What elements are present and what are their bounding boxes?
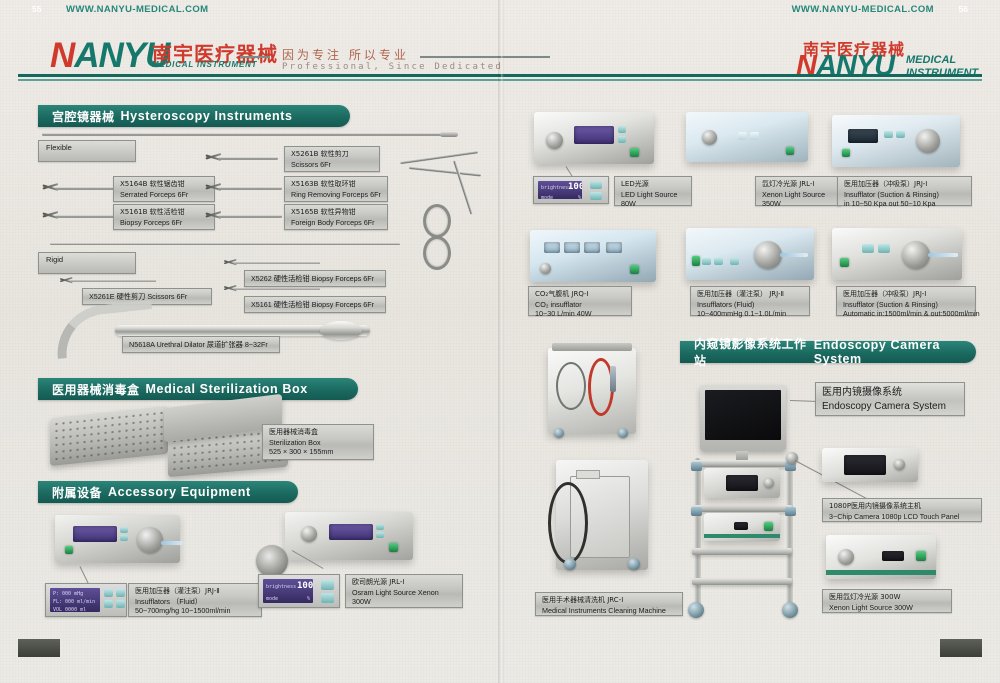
instrument-label-biopsy-5262-text: X5262 硬性活检钳 Biopsy Forceps 6Fr bbox=[251, 274, 379, 284]
sterilization-box-label-en: Sterilization Box bbox=[269, 438, 367, 448]
lcd-led-brightness-value: 100 bbox=[568, 182, 582, 192]
device-label-cleaning-en: Medical Instruments Cleaning Machine bbox=[542, 606, 676, 616]
section-banner-camera-cn: 内窥镜影像系统工作站 bbox=[680, 335, 808, 369]
lcd-osram-brightness-value: 100 bbox=[297, 581, 313, 591]
device-label-osram-spec: 300W bbox=[352, 597, 456, 607]
instrument-label-ring-removing: X5163B 软性取环钳 Ring Removing Forceps 6Fr bbox=[284, 176, 388, 202]
instrument-label-ring-en: Ring Removing Forceps 6Fr bbox=[291, 190, 381, 200]
machine-cleaning-upper-top bbox=[552, 343, 632, 351]
lcd-closeup-osram-btn-up[interactable] bbox=[321, 580, 334, 590]
device-co2-display-1 bbox=[544, 242, 560, 253]
device-label-co2-spec: 10~30 L/min 40W bbox=[535, 309, 625, 319]
cart-light-source-stripe bbox=[704, 534, 780, 538]
slogan-english: Professional, Since Dedicated bbox=[282, 62, 503, 72]
cart-ccu-screen bbox=[726, 475, 758, 491]
ring-forceps-ring-left bbox=[423, 204, 451, 238]
device-label-co2-en: CO₂ insufflator bbox=[535, 300, 625, 310]
device-osram-light-port[interactable] bbox=[301, 526, 317, 542]
lcd-closeup-led: brightness 100 mode % bbox=[533, 176, 609, 204]
sterilization-box-label-size: 525 × 300 × 155mm bbox=[269, 447, 367, 457]
device-osram-button-a[interactable] bbox=[376, 524, 384, 530]
instrument-shaft-biopsy-5262 bbox=[234, 262, 320, 264]
instrument-label-scissors: X5261B 软性剪刀 Scissors 6Fr bbox=[284, 146, 380, 172]
device-label-led-cn: LED光源 bbox=[621, 180, 685, 190]
catalog-page: NANYU 南宇医疗器械 MEDICAL INSTRUMENT 因为专注 所以专… bbox=[0, 0, 1000, 683]
device-co2-power-button[interactable] bbox=[630, 265, 639, 274]
lcd-led-brightness-label: brightness bbox=[541, 185, 571, 191]
device-led-light-source bbox=[534, 112, 654, 164]
device-led-button-a[interactable] bbox=[618, 126, 626, 133]
ring-forceps-arm bbox=[453, 160, 473, 214]
device-co2-display-4 bbox=[606, 242, 622, 253]
device-label-led-spec: 80W bbox=[621, 199, 685, 209]
lcd-closeup-led-btn-up[interactable] bbox=[590, 181, 602, 189]
dilator-bulb bbox=[320, 321, 362, 340]
cart-light-source-unit bbox=[704, 513, 780, 541]
device-osram-button-b[interactable] bbox=[376, 532, 384, 538]
device-label-led: LED光源 LED Light Source 80W bbox=[614, 176, 692, 206]
machine-cleaning-lower-hose bbox=[548, 482, 588, 564]
device-label-osram-cn: 欧司朗光源 JRL-Ⅰ bbox=[352, 578, 456, 588]
cart-camera-control-unit bbox=[704, 468, 780, 498]
machine-cleaning-lower-badge bbox=[576, 470, 600, 479]
cart-shelf-4 bbox=[692, 578, 792, 585]
lcd-led-mode-label: mode bbox=[541, 195, 553, 199]
instrument-label-biopsy-5262: X5262 硬性活检钳 Biopsy Forceps 6Fr bbox=[244, 270, 386, 287]
device-insufflator-fluid-row2-btn-a[interactable] bbox=[702, 258, 711, 265]
cart-caster-left bbox=[688, 602, 704, 618]
sterilization-box-label: 医用器械消毒盒 Sterilization Box 525 × 300 × 15… bbox=[262, 424, 374, 460]
device-led-screen bbox=[574, 126, 614, 144]
cart-post-left bbox=[694, 458, 701, 608]
device-insufflator-fluid-row2-btn-c[interactable] bbox=[730, 258, 739, 265]
machine-cleaning-upper-grey-hose bbox=[556, 362, 586, 410]
lcd-closeup-led-screen: brightness 100 mode % bbox=[538, 181, 582, 199]
header-dash-right bbox=[420, 56, 550, 58]
device-co2-insufflator bbox=[530, 230, 656, 282]
ring-forceps-ring-right bbox=[423, 236, 451, 270]
device-co2-display-2 bbox=[564, 242, 580, 253]
cart-shelf-1 bbox=[692, 460, 792, 467]
lcd-osram-brightness-label: brightness bbox=[266, 584, 296, 590]
lcd-closeup-osram-btn-down[interactable] bbox=[321, 593, 334, 603]
device-osram-screen bbox=[329, 524, 373, 540]
device-label-cleaning-machine: 医用手术器械清洗机 JRC-Ⅰ Medical Instruments Clea… bbox=[535, 592, 683, 616]
device-co2-display-3 bbox=[584, 242, 600, 253]
device-led-button-b[interactable] bbox=[618, 136, 626, 143]
lcd-led-mode-value: % bbox=[578, 195, 581, 199]
lcd-closeup-led-btn-down[interactable] bbox=[590, 192, 602, 200]
instrument-shaft-scissors bbox=[218, 157, 278, 160]
instrument-shaft-foreign-body bbox=[218, 215, 282, 218]
machine-cleaning-lower-caster-right bbox=[628, 558, 640, 570]
device-osram-light-source bbox=[285, 512, 413, 560]
device-label-osram-en: Osram Light Source Xenon bbox=[352, 588, 456, 598]
instrument-shaft-ring bbox=[218, 187, 282, 190]
device-led-power-button[interactable] bbox=[630, 148, 639, 157]
cart-clamp-ml bbox=[691, 507, 702, 516]
machine-cleaning-lower bbox=[556, 460, 648, 570]
instrument-shaft-biopsy-5161 bbox=[234, 288, 320, 290]
device-label-led-en: LED Light Source bbox=[621, 190, 685, 200]
device-xenon-button-b[interactable] bbox=[750, 132, 759, 140]
instrument-label-foreign-body: X5165B 软性异物钳 Foreign Body Forceps 6Fr bbox=[284, 204, 388, 230]
machine-cleaning-upper bbox=[548, 348, 636, 434]
device-label-fluid-row2-cn: 医用加压器（灌注泵） JRJ-Ⅱ bbox=[697, 290, 803, 300]
device-led-light-port[interactable] bbox=[546, 132, 563, 149]
machine-cleaning-upper-caster-left bbox=[554, 428, 564, 438]
page-spine bbox=[498, 0, 504, 683]
instrument-label-foreign-en: Foreign Body Forceps 6Fr bbox=[291, 218, 381, 228]
instrument-label-foreign-cn: X5165B 软性异物钳 bbox=[291, 208, 381, 218]
slogan-chinese: 因为专注 所以专业 bbox=[282, 46, 409, 63]
device-insufflator-fluid-row2-pump[interactable] bbox=[754, 241, 782, 269]
cart-light-source-display bbox=[734, 522, 748, 530]
instrument-label-scissors-en: Scissors 6Fr bbox=[291, 160, 373, 170]
lcd-closeup-osram: brightness 100 mode % bbox=[258, 574, 340, 608]
cart-monitor-screen bbox=[705, 390, 781, 440]
device-label-cleaning-cn: 医用手术器械清洗机 JRC-Ⅰ bbox=[542, 596, 676, 606]
footer-url-left[interactable]: WWW.NANYU-MEDICAL.COM bbox=[66, 4, 208, 653]
sterilization-box-label-cn: 医用器械消毒盒 bbox=[269, 428, 367, 438]
device-co2-gas-port[interactable] bbox=[540, 263, 551, 274]
machine-cleaning-upper-nozzle bbox=[610, 366, 616, 392]
instrument-label-scissors-cn: X5261B 软性剪刀 bbox=[291, 150, 373, 160]
device-osram-power-button[interactable] bbox=[389, 543, 398, 552]
lcd-osram-mode-label: mode bbox=[266, 596, 278, 602]
instrument-ring-handle-forceps bbox=[395, 140, 515, 300]
device-label-fluid-row2-en: Insufflators (Fluid) bbox=[697, 300, 803, 310]
ring-forceps-shaft-upper bbox=[400, 151, 478, 165]
device-label-co2: CO₂气腹机 JRQ-Ⅰ CO₂ insufflator 10~30 L/min… bbox=[528, 286, 632, 316]
footer-page-number-left: 55 bbox=[32, 4, 41, 653]
device-insufflator-fluid-row2-btn-b[interactable] bbox=[714, 258, 723, 265]
lcd-closeup-osram-screen: brightness 100 mode % bbox=[263, 579, 313, 603]
footer-url-right[interactable]: WWW.NANYU-MEDICAL.COM bbox=[792, 4, 934, 653]
instrument-long-probe-tip bbox=[440, 132, 458, 137]
cart-shelf-3 bbox=[692, 548, 792, 555]
lcd-osram-mode-value: % bbox=[307, 596, 310, 602]
cart-shelf-2 bbox=[692, 505, 792, 512]
cart-clamp-tl bbox=[691, 462, 702, 471]
ring-forceps-shaft-lower bbox=[409, 166, 481, 177]
machine-cleaning-upper-caster-right bbox=[618, 428, 628, 438]
device-xenon-light-source bbox=[686, 112, 808, 162]
cart-monitor bbox=[700, 385, 786, 451]
device-label-osram: 欧司朗光源 JRL-Ⅰ Osram Light Source Xenon 300… bbox=[345, 574, 463, 608]
device-xenon-button-a[interactable] bbox=[738, 132, 747, 140]
footer-page-number-right: 56 bbox=[959, 4, 968, 653]
device-label-fluid-row2-spec: 10~400mmHg 0.1~1.0L/min bbox=[697, 309, 803, 319]
header-dash-left bbox=[240, 56, 270, 58]
machine-cleaning-lower-caster-left bbox=[564, 558, 576, 570]
device-osram-light-cable-coupler bbox=[256, 545, 288, 577]
device-xenon-light-port[interactable] bbox=[702, 130, 717, 145]
device-label-co2-cn: CO₂气腹机 JRQ-Ⅰ bbox=[535, 290, 625, 300]
cart-ccu-knob[interactable] bbox=[764, 478, 774, 488]
instrument-label-ring-cn: X5163B 软性取环钳 bbox=[291, 180, 381, 190]
device-insufflator-fluid-row2-power[interactable] bbox=[692, 256, 700, 266]
cart-light-source-power[interactable] bbox=[764, 522, 773, 531]
